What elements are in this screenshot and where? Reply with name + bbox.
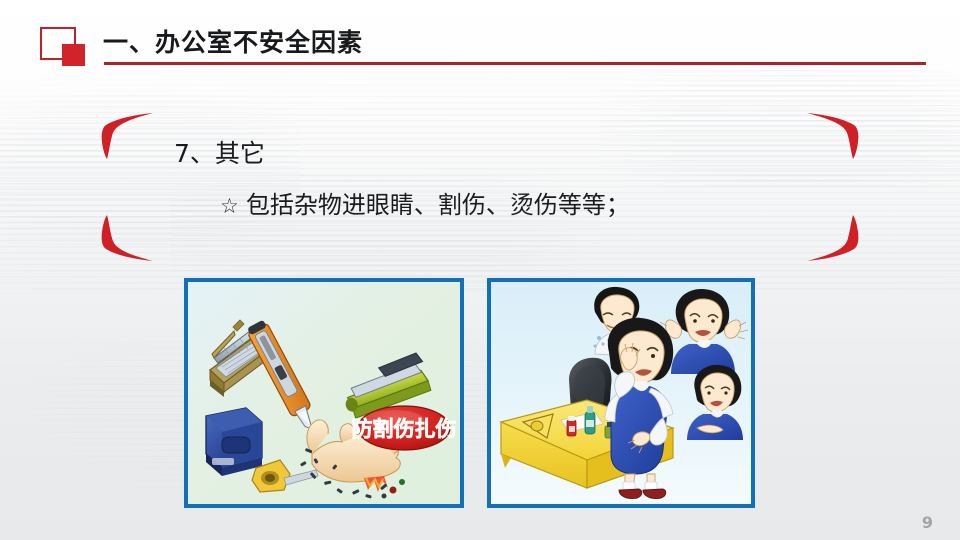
section-heading: 7、其它: [174, 134, 265, 170]
corner-swoosh-icon-bottom-left: [100, 214, 154, 262]
star-outline-icon: ☆: [220, 194, 239, 218]
title-underline-divider: [104, 62, 926, 65]
square-filled-icon: [62, 44, 85, 66]
page-title: 一、办公室不安全因素: [103, 23, 363, 59]
corner-swoosh-icon-top-right: [806, 112, 860, 160]
corner-swoosh-icon-bottom-right: [806, 214, 860, 262]
picture-office-cutting-tools[interactable]: 防割伤扎伤: [184, 278, 464, 508]
picture-left-badge-text: 防割伤扎伤: [352, 417, 457, 441]
corner-swoosh-icon-top-left: [100, 112, 154, 160]
picture-eye-irritation[interactable]: [487, 278, 755, 508]
slide-canvas: 一、办公室不安全因素 7、其它 ☆包括杂物进眼睛、割伤、烫伤等等；: [0, 0, 960, 540]
background-watermark-patch-right: [600, 70, 960, 190]
bullet-text: 包括杂物进眼睛、割伤、烫伤等等；: [246, 191, 630, 219]
page-number: 9: [922, 513, 933, 532]
header-logo: [40, 27, 86, 67]
bullet-line: ☆包括杂物进眼睛、割伤、烫伤等等；: [220, 185, 630, 220]
